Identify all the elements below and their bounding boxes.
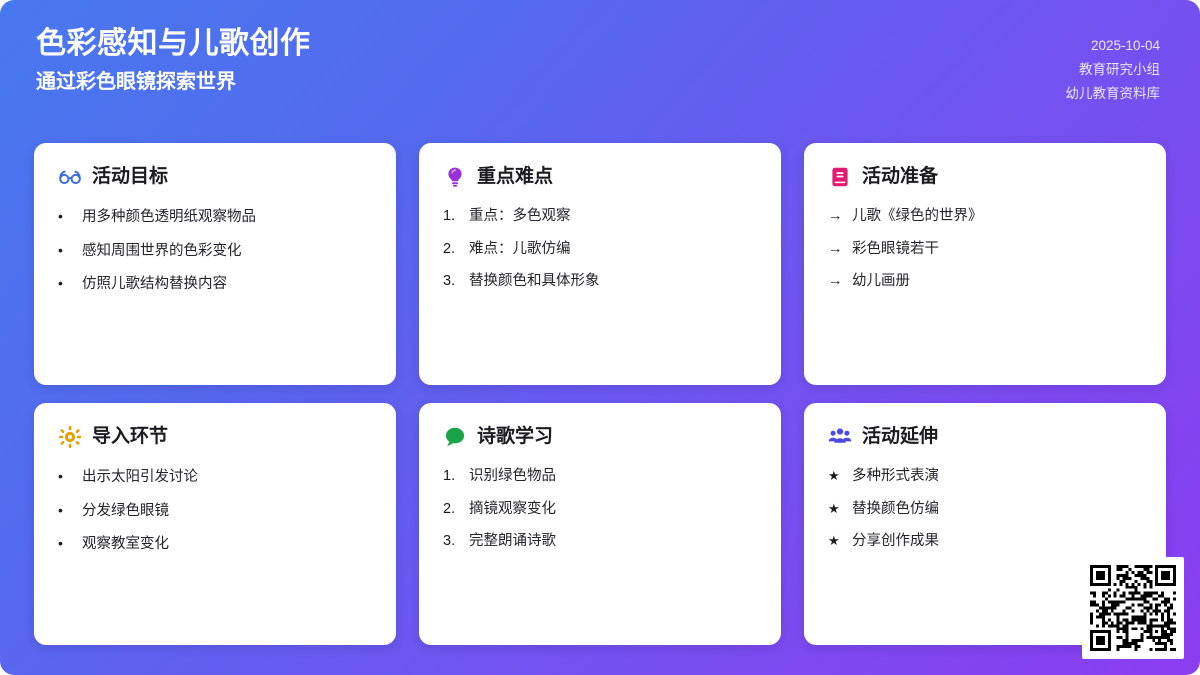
list-marker: • xyxy=(58,207,72,226)
chat-bubble-icon xyxy=(443,425,467,449)
sun-icon xyxy=(58,425,82,449)
meta-group: 教育研究小组 xyxy=(1079,58,1160,82)
card-activity-goals[interactable]: 活动目标 • 用多种颜色透明纸观察物品 • 感知周围世界的色彩变化 • 仿照儿歌… xyxy=(34,143,396,385)
people-group-icon xyxy=(828,425,852,449)
book-icon xyxy=(828,165,852,189)
list-text: 出示太阳引发讨论 xyxy=(82,468,198,488)
list-marker: 3. xyxy=(443,532,461,552)
list-text: 多种形式表演 xyxy=(852,467,939,487)
list-text: 摘镜观察变化 xyxy=(469,500,556,520)
list-item: 2. 摘镜观察变化 xyxy=(443,500,757,520)
card-introduction[interactable]: 导入环节 • 出示太阳引发讨论 • 分发绿色眼镜 • 观察教室变化 xyxy=(34,403,396,645)
list-marker: ★ xyxy=(828,500,844,518)
page-title: 色彩感知与儿歌创作 xyxy=(36,24,311,63)
list-text: 分享创作成果 xyxy=(852,532,939,552)
list-marker: • xyxy=(58,534,72,553)
card-item-list: → 儿歌《绿色的世界》 → 彩色眼镜若干 → 幼儿画册 xyxy=(828,207,1142,292)
card-title: 诗歌学习 xyxy=(477,426,553,449)
list-text: 幼儿画册 xyxy=(852,272,910,292)
card-header: 活动延伸 xyxy=(828,425,1142,449)
list-text: 难点：儿歌仿编 xyxy=(469,240,571,260)
list-text: 仿照儿歌结构替换内容 xyxy=(82,275,227,295)
list-marker: 2. xyxy=(443,240,461,260)
list-item: ★ 分享创作成果 xyxy=(828,532,1142,552)
card-item-list: • 用多种颜色透明纸观察物品 • 感知周围世界的色彩变化 • 仿照儿歌结构替换内… xyxy=(58,207,372,295)
card-title: 活动准备 xyxy=(862,166,938,189)
list-marker: 3. xyxy=(443,272,461,292)
slide-header: 色彩感知与儿歌创作 通过彩色眼镜探索世界 2025-10-04 教育研究小组 幼… xyxy=(0,0,1200,128)
list-text: 完整朗诵诗歌 xyxy=(469,532,556,552)
list-marker: → xyxy=(828,207,844,227)
list-item: 2. 难点：儿歌仿编 xyxy=(443,240,757,260)
card-item-list: • 出示太阳引发讨论 • 分发绿色眼镜 • 观察教室变化 xyxy=(58,467,372,555)
card-item-list: ★ 多种形式表演 ★ 替换颜色仿编 ★ 分享创作成果 xyxy=(828,467,1142,552)
card-header: 诗歌学习 xyxy=(443,425,757,449)
card-header: 活动准备 xyxy=(828,165,1142,189)
list-item: 1. 重点：多色观察 xyxy=(443,207,757,227)
list-marker: • xyxy=(58,241,72,260)
list-text: 替换颜色仿编 xyxy=(852,500,939,520)
list-item: → 彩色眼镜若干 xyxy=(828,240,1142,260)
card-grid: 活动目标 • 用多种颜色透明纸观察物品 • 感知周围世界的色彩变化 • 仿照儿歌… xyxy=(34,143,1166,645)
qr-code[interactable] xyxy=(1082,557,1184,659)
list-text: 替换颜色和具体形象 xyxy=(469,272,600,292)
list-marker: ★ xyxy=(828,467,844,485)
list-marker: 1. xyxy=(443,467,461,487)
card-title: 活动延伸 xyxy=(862,426,938,449)
slide-root: 色彩感知与儿歌创作 通过彩色眼镜探索世界 2025-10-04 教育研究小组 幼… xyxy=(0,0,1200,675)
meta-date: 2025-10-04 xyxy=(1091,34,1160,58)
list-item: • 仿照儿歌结构替换内容 xyxy=(58,274,372,295)
page-subtitle: 通过彩色眼镜探索世界 xyxy=(36,69,311,95)
card-title: 活动目标 xyxy=(92,166,168,189)
list-item: ★ 多种形式表演 xyxy=(828,467,1142,487)
header-title-block: 色彩感知与儿歌创作 通过彩色眼镜探索世界 xyxy=(36,24,311,95)
list-item: • 感知周围世界的色彩变化 xyxy=(58,241,372,262)
list-item: → 幼儿画册 xyxy=(828,272,1142,292)
card-header: 活动目标 xyxy=(58,165,372,189)
list-text: 儿歌《绿色的世界》 xyxy=(852,207,983,227)
card-title: 导入环节 xyxy=(92,426,168,449)
list-marker: • xyxy=(58,501,72,520)
card-item-list: 1. 重点：多色观察 2. 难点：儿歌仿编 3. 替换颜色和具体形象 xyxy=(443,207,757,292)
list-item: • 分发绿色眼镜 xyxy=(58,501,372,522)
list-marker: • xyxy=(58,274,72,293)
card-title: 重点难点 xyxy=(477,166,553,189)
header-meta-block: 2025-10-04 教育研究小组 幼儿教育资料库 xyxy=(1066,24,1161,106)
list-text: 感知周围世界的色彩变化 xyxy=(82,242,242,262)
card-preparation[interactable]: 活动准备 → 儿歌《绿色的世界》 → 彩色眼镜若干 → 幼儿画册 xyxy=(804,143,1166,385)
list-marker: → xyxy=(828,272,844,292)
list-marker: • xyxy=(58,467,72,486)
lightbulb-icon xyxy=(443,165,467,189)
list-item: ★ 替换颜色仿编 xyxy=(828,500,1142,520)
list-text: 用多种颜色透明纸观察物品 xyxy=(82,208,256,228)
list-item: • 观察教室变化 xyxy=(58,534,372,555)
card-header: 导入环节 xyxy=(58,425,372,449)
list-item: 1. 识别绿色物品 xyxy=(443,467,757,487)
list-marker: 1. xyxy=(443,207,461,227)
card-item-list: 1. 识别绿色物品 2. 摘镜观察变化 3. 完整朗诵诗歌 xyxy=(443,467,757,552)
list-item: → 儿歌《绿色的世界》 xyxy=(828,207,1142,227)
list-item: • 出示太阳引发讨论 xyxy=(58,467,372,488)
list-text: 重点：多色观察 xyxy=(469,207,571,227)
list-text: 识别绿色物品 xyxy=(469,467,556,487)
card-header: 重点难点 xyxy=(443,165,757,189)
glasses-icon xyxy=(58,165,82,189)
list-marker: ★ xyxy=(828,532,844,550)
list-text: 彩色眼镜若干 xyxy=(852,240,939,260)
meta-library: 幼儿教育资料库 xyxy=(1066,82,1161,106)
list-item: 3. 完整朗诵诗歌 xyxy=(443,532,757,552)
card-key-points[interactable]: 重点难点 1. 重点：多色观察 2. 难点：儿歌仿编 3. 替换颜色和具体形象 xyxy=(419,143,781,385)
list-text: 分发绿色眼镜 xyxy=(82,502,169,522)
list-marker: → xyxy=(828,240,844,260)
list-item: 3. 替换颜色和具体形象 xyxy=(443,272,757,292)
card-poem-study[interactable]: 诗歌学习 1. 识别绿色物品 2. 摘镜观察变化 3. 完整朗诵诗歌 xyxy=(419,403,781,645)
list-marker: 2. xyxy=(443,500,461,520)
list-text: 观察教室变化 xyxy=(82,535,169,555)
list-item: • 用多种颜色透明纸观察物品 xyxy=(58,207,372,228)
